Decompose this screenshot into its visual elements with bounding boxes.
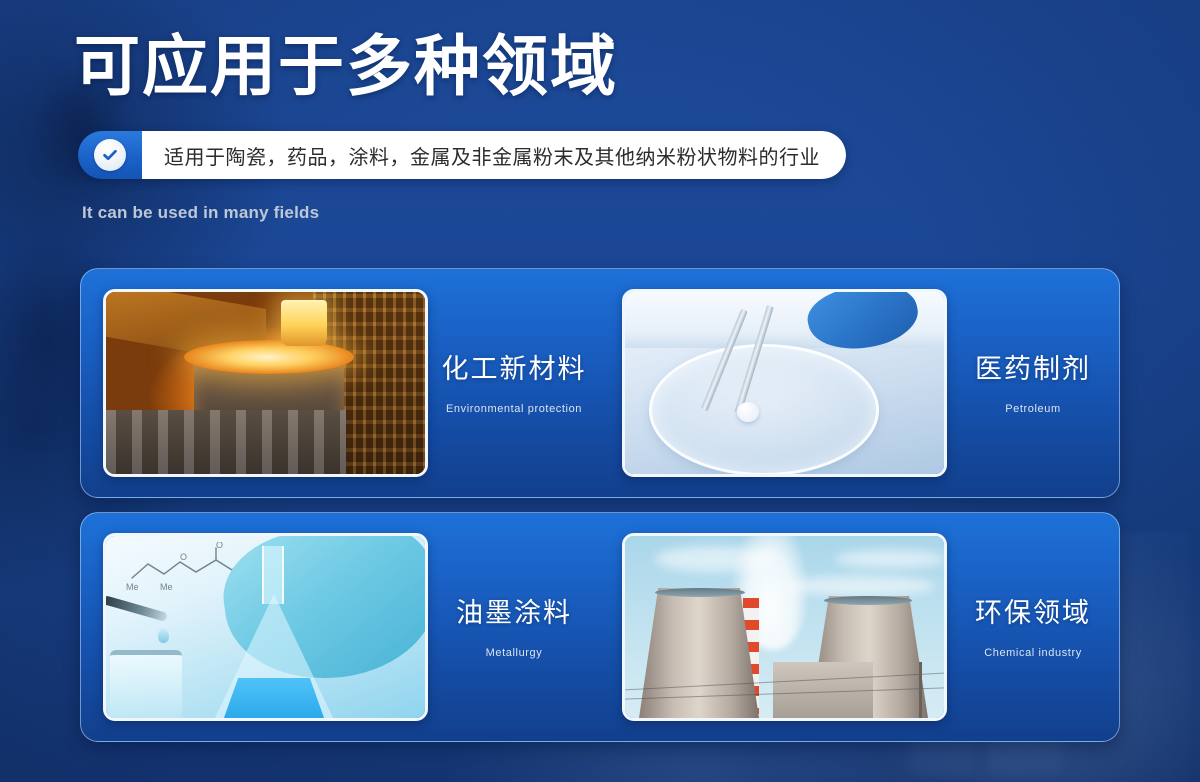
check-circle-icon bbox=[94, 139, 126, 171]
application-card-pharmaceutical[interactable]: 医药制剂 Petroleum bbox=[600, 269, 1119, 497]
application-card-ink-coatings[interactable]: O O OH Me Me bbox=[81, 513, 600, 741]
application-panel-row-2: O O OH Me Me bbox=[80, 512, 1120, 742]
card-title: 化工新材料 bbox=[442, 347, 587, 386]
subtitle-badge-bar: 适用于陶瓷，药品，涂料，金属及非金属粉末及其他纳米粉状物料的行业 bbox=[78, 131, 846, 179]
promo-banner: 可应用于多种领域 适用于陶瓷，药品，涂料，金属及非金属粉末及其他纳米粉状物料的行… bbox=[0, 0, 1200, 782]
svg-text:O: O bbox=[180, 552, 187, 562]
card-subtitle: Environmental protection bbox=[446, 403, 582, 415]
application-card-environmental[interactable]: 环保领域 Chemical industry bbox=[600, 513, 1119, 741]
card-thumbnail-power-plant bbox=[622, 533, 947, 721]
subtitle-english: It can be used in many fields bbox=[82, 203, 319, 223]
card-title: 环保领域 bbox=[975, 591, 1091, 630]
card-thumbnail-laboratory: O O OH Me Me bbox=[103, 533, 428, 721]
card-title: 医药制剂 bbox=[975, 347, 1091, 386]
subtitle-text: 适用于陶瓷，药品，涂料，金属及非金属粉末及其他纳米粉状物料的行业 bbox=[142, 131, 846, 179]
application-card-chemical-materials[interactable]: 化工新材料 Environmental protection bbox=[81, 269, 600, 497]
card-thumbnail-foundry bbox=[103, 289, 428, 477]
svg-text:Me: Me bbox=[126, 582, 139, 592]
card-subtitle: Metallurgy bbox=[486, 647, 543, 659]
card-subtitle: Petroleum bbox=[1005, 403, 1061, 415]
svg-text:O: O bbox=[216, 542, 223, 550]
svg-text:Me: Me bbox=[160, 582, 173, 592]
application-panel-row-1: 化工新材料 Environmental protection bbox=[80, 268, 1120, 498]
check-badge bbox=[78, 131, 142, 179]
card-title: 油墨涂料 bbox=[456, 591, 572, 630]
card-thumbnail-petri-dish bbox=[622, 289, 947, 477]
page-title: 可应用于多种领域 bbox=[74, 35, 618, 101]
card-subtitle: Chemical industry bbox=[984, 647, 1082, 659]
